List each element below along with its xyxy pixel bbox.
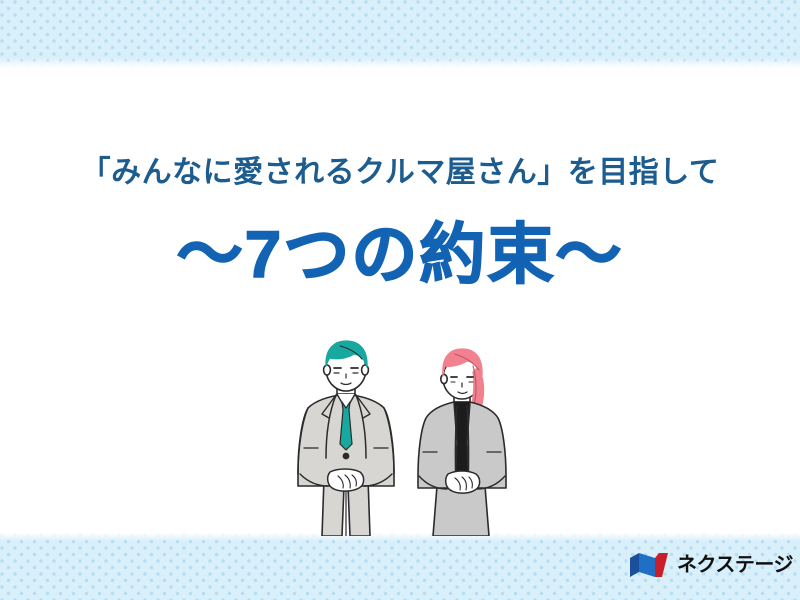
female-staff-figure: [418, 349, 506, 536]
nextage-logo-text: ネクステージ: [677, 555, 793, 575]
nextage-logo: ネクステージ: [628, 549, 793, 581]
male-staff-figure: [298, 341, 394, 536]
promo-banner: 「みんなに愛されるクルマ屋さん」を目指して 〜7つの約束〜: [0, 0, 800, 600]
top-dot-band: [0, 0, 800, 68]
staff-illustration-svg: [282, 336, 542, 536]
nextage-n-mark-icon: [628, 551, 670, 579]
banner-main-title: 〜7つの約束〜: [0, 221, 800, 287]
banner-headline: 「みんなに愛されるクルマ屋さん」を目指して: [0, 158, 800, 188]
staff-illustration: [282, 336, 542, 536]
